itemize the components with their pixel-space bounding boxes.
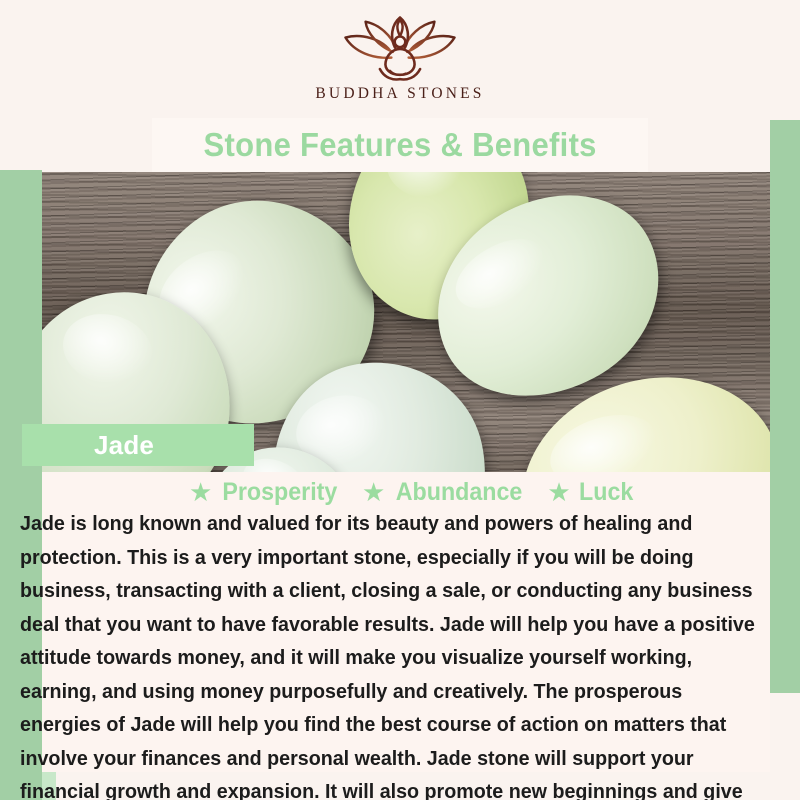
star-icon: ★ <box>362 479 385 505</box>
right-green-frame-bar <box>770 118 800 693</box>
benefits-row: ★ Prosperity ★ Abundance ★ Luck <box>42 478 782 507</box>
brand-header: BUDDHA STONES <box>0 0 800 120</box>
stone-info-poster: BUDDHA STONES Stone Features & Benefits … <box>0 0 800 800</box>
stone-name-label: Jade <box>94 430 154 461</box>
title-banner: Stone Features & Benefits <box>152 118 648 172</box>
stone-description: Jade is long known and valued for its be… <box>20 508 761 800</box>
benefit-item: ★ Luck <box>547 478 635 507</box>
star-icon: ★ <box>547 479 570 505</box>
benefit-item: ★ Abundance <box>362 478 527 507</box>
star-icon: ★ <box>189 479 212 505</box>
benefit-label: Prosperity <box>223 478 338 507</box>
lotus-meditation-icon <box>326 16 474 82</box>
brand-name: BUDDHA STONES <box>315 85 484 103</box>
benefit-label: Abundance <box>396 478 523 507</box>
page-title: Stone Features & Benefits <box>203 126 596 164</box>
stone-name-badge: Jade <box>22 424 254 466</box>
benefit-item: ★ Prosperity <box>189 478 342 507</box>
benefit-label: Luck <box>579 478 633 507</box>
